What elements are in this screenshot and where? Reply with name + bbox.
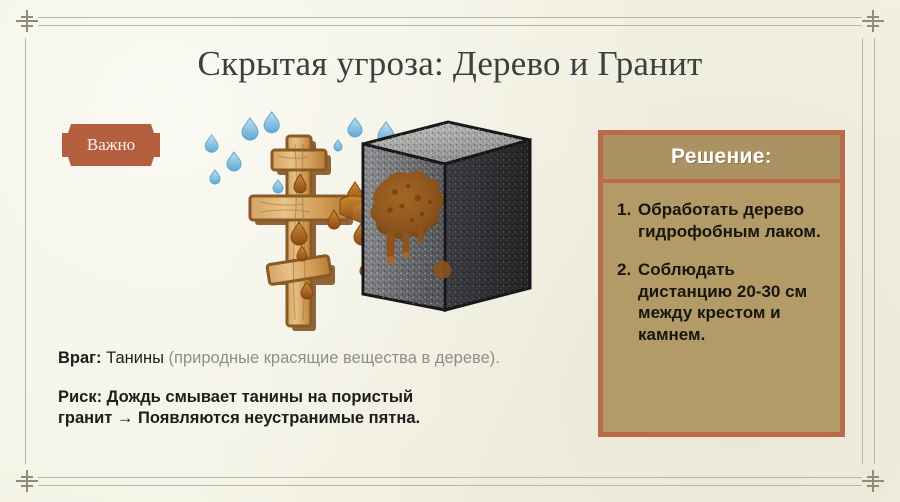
solution-item-1-text: Обработать дерево гидрофобным лаком. [638, 199, 828, 242]
solution-item-2: 2. Соблюдать дистанцию 20-30 см между кр… [617, 259, 828, 345]
frame-left-line-outer [25, 38, 26, 464]
frame-top-line-inner [38, 25, 862, 26]
solution-list: 1. Обработать дерево гидрофобным лаком. … [603, 183, 840, 345]
solution-panel: Решение: 1. Обработать дерево гидрофобны… [598, 130, 845, 437]
facts-block: Враг: Танины (природные красящие веществ… [58, 348, 603, 429]
solution-item-2-number: 2. [617, 259, 638, 345]
fact-enemy-note: (природные красящие вещества в дереве). [169, 349, 500, 367]
solution-heading: Решение: [603, 135, 840, 183]
illustration-cross-and-granite [190, 110, 590, 340]
fact-enemy-key: Враг: [58, 349, 106, 367]
important-badge-label: Важно [87, 135, 135, 155]
frame-bottom-line-inner [38, 485, 862, 486]
fact-risk-key: Риск: [58, 388, 107, 406]
corner-ornament-bottom-right [860, 468, 886, 494]
corner-ornament-top-right [860, 8, 886, 34]
important-badge: Важно [62, 124, 160, 166]
frame-bottom-line-outer [38, 477, 862, 478]
page-title: Скрытая угроза: Дерево и Гранит [0, 44, 900, 84]
solution-item-1: 1. Обработать дерево гидрофобным лаком. [617, 199, 828, 242]
corner-ornament-bottom-left [14, 468, 40, 494]
fact-enemy: Враг: Танины (природные красящие веществ… [58, 348, 603, 369]
solution-item-2-text: Соблюдать дистанцию 20-30 см между крест… [638, 259, 828, 345]
granite-cube [363, 122, 530, 310]
fact-risk: Риск: Дождь смывает танины на пористый г… [58, 387, 603, 429]
frame-right-line-inner [862, 38, 863, 464]
fact-risk-line-2: гранит → Появляются неустранимые пятна. [58, 409, 420, 427]
fact-enemy-main: Танины [106, 349, 168, 367]
frame-top-line-outer [38, 17, 862, 18]
frame-right-line-outer [874, 38, 875, 464]
slide-canvas: Скрытая угроза: Дерево и Гранит Важно [0, 0, 900, 502]
corner-ornament-top-left [14, 8, 40, 34]
fact-risk-line-1: Дождь смывает танины на пористый [107, 388, 413, 406]
solution-item-1-number: 1. [617, 199, 638, 242]
